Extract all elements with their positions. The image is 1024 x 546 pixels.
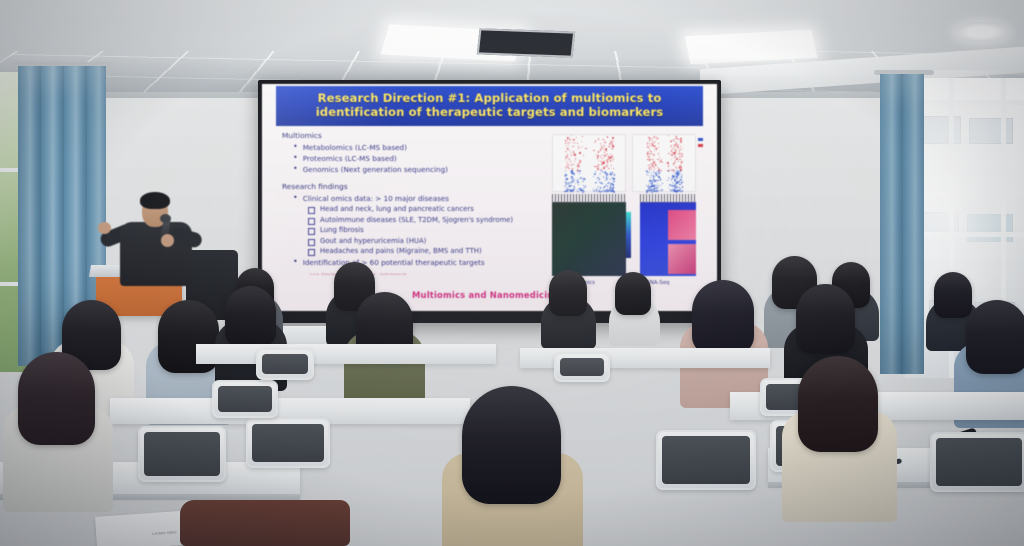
student-f3: [790, 356, 889, 512]
student-hair: [798, 356, 879, 452]
lecture-hall-photo: Research Direction #1: Application of mu…: [0, 0, 1024, 546]
audience-row-front: [0, 0, 1024, 546]
student-hair: [18, 352, 96, 445]
student-f2: [452, 386, 574, 546]
student-f1: [10, 352, 105, 502]
student-hair: [462, 386, 561, 504]
